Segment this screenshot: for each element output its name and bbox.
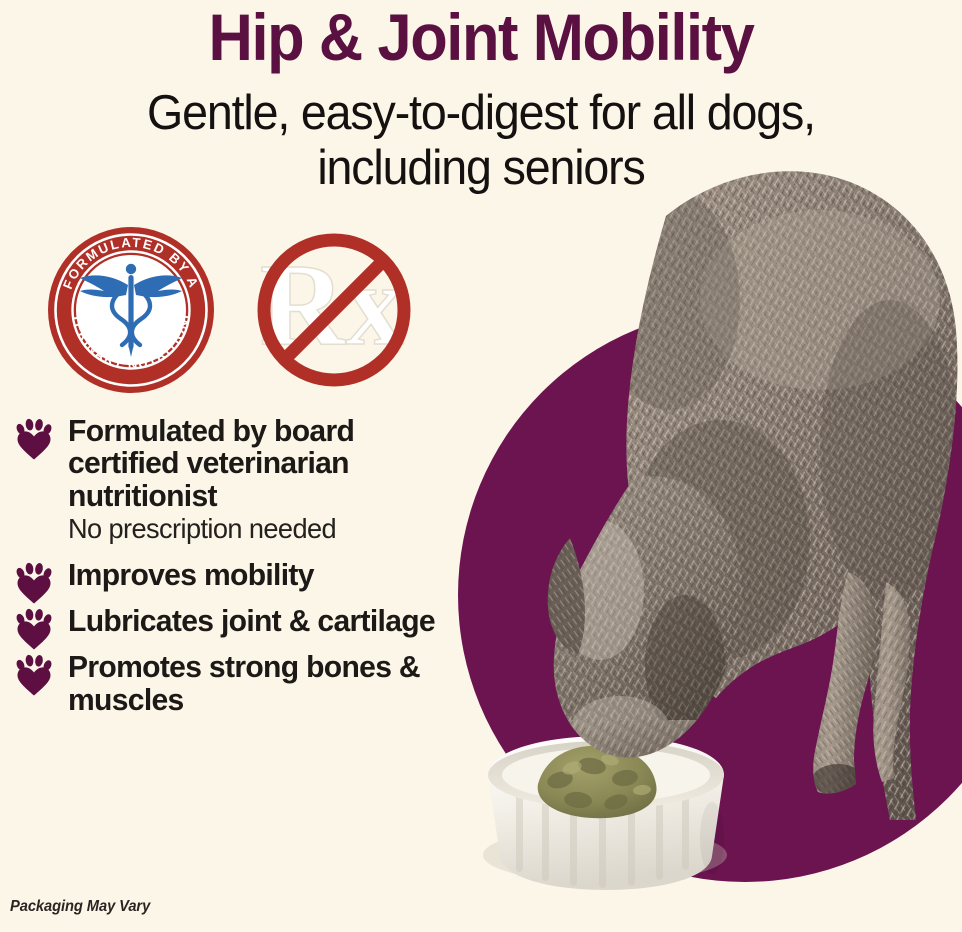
list-item-subtext: No prescription needed — [68, 513, 450, 544]
page-subtitle-line-2: including seniors — [24, 141, 938, 196]
list-item: Formulated by board certified veterinari… — [10, 415, 462, 545]
page-title: Hip & Joint Mobility — [34, 4, 929, 72]
list-item: Promotes strong bones & muscles — [10, 651, 462, 716]
list-item-label: Lubricates joint & cartilage — [68, 605, 450, 637]
paw-heart-icon — [12, 654, 56, 698]
packaging-disclaimer: Packaging May Vary — [10, 898, 150, 916]
paw-heart-icon — [12, 608, 56, 652]
page-subtitle-line-1: Gentle, easy-to-digest for all dogs, — [24, 86, 938, 141]
list-item: Lubricates joint & cartilage — [10, 605, 462, 637]
list-item-label: Improves mobility — [68, 559, 450, 591]
dog-eating-from-bowl-photo — [420, 120, 962, 932]
benefit-list: Formulated by board certified veterinari… — [10, 415, 462, 730]
paw-heart-icon — [12, 562, 56, 606]
page-subtitle: Gentle, easy-to-digest for all dogs, inc… — [24, 86, 938, 196]
paw-heart-icon — [12, 418, 56, 462]
no-prescription-badge: Rx — [246, 222, 422, 398]
veterinary-nutritionist-seal: FORMULATED BY A VETERINARY NUTRITIONIST — [46, 225, 216, 395]
product-feature-panel: Hip & Joint Mobility Gentle, easy-to-dig… — [0, 0, 962, 932]
list-item: Improves mobility — [10, 559, 462, 591]
list-item-label: Formulated by board certified veterinari… — [68, 415, 450, 512]
list-item-label: Promotes strong bones & muscles — [68, 651, 450, 716]
